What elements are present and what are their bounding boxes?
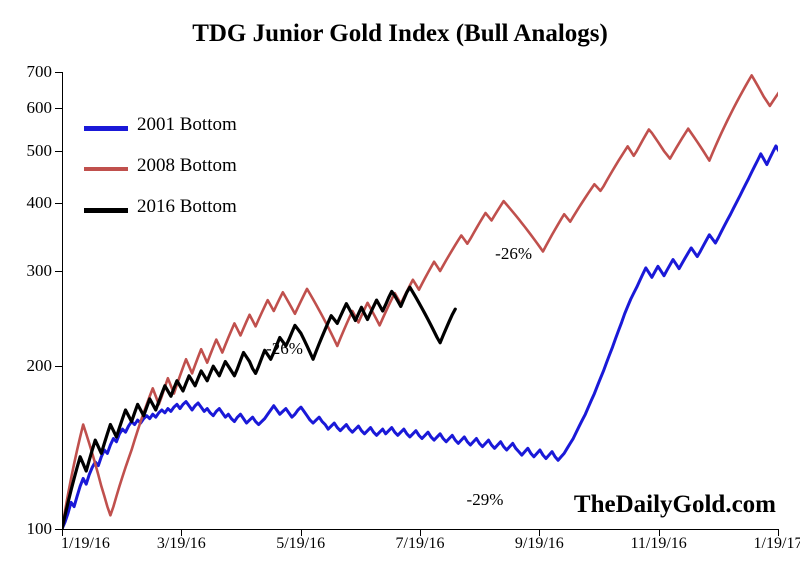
- page-title: TDG Junior Gold Index (Bull Analogs): [0, 20, 800, 48]
- legend-swatch: [84, 126, 128, 131]
- y-axis-tick-label: 200: [0, 356, 52, 376]
- x-axis-tick-label: 11/19/16: [630, 535, 686, 553]
- series-line: [62, 287, 455, 529]
- y-axis-tick-label: 300: [0, 261, 52, 281]
- y-axis-tick: [55, 151, 62, 152]
- x-axis-tick-label: 1/19/17: [754, 535, 800, 553]
- x-axis-tick: [420, 529, 421, 536]
- x-axis-line: [62, 529, 778, 530]
- legend-swatch: [84, 208, 128, 213]
- x-axis-tick: [659, 529, 660, 536]
- legend-label: 2001 Bottom: [137, 114, 237, 136]
- watermark: TheDailyGold.com: [574, 491, 776, 519]
- x-axis-tick: [181, 529, 182, 536]
- x-axis-tick-label: 3/19/16: [157, 535, 206, 553]
- legend-label: 2008 Bottom: [137, 155, 237, 177]
- legend-swatch: [84, 167, 128, 171]
- y-axis-tick-label: 100: [0, 519, 52, 539]
- chart-container: TDG Junior Gold Index (Bull Analogs) 100…: [0, 0, 800, 575]
- y-axis-tick: [55, 203, 62, 204]
- x-axis-tick: [62, 529, 63, 536]
- y-axis-tick-label: 500: [0, 141, 52, 161]
- annotation-label: -26%: [266, 339, 303, 359]
- y-axis-tick: [55, 72, 62, 73]
- x-axis-tick-label: 5/19/16: [276, 535, 325, 553]
- series-lines: [62, 72, 778, 529]
- x-axis-tick: [778, 529, 779, 536]
- y-axis-tick: [55, 271, 62, 272]
- series-line: [62, 131, 778, 529]
- x-axis-tick: [301, 529, 302, 536]
- legend-label: 2016 Bottom: [137, 196, 237, 218]
- y-axis-tick: [55, 529, 62, 530]
- y-axis-tick-label: 700: [0, 62, 52, 82]
- x-axis-tick-label: 9/19/16: [515, 535, 564, 553]
- y-axis-tick: [55, 108, 62, 109]
- y-axis-tick-label: 600: [0, 98, 52, 118]
- x-axis-tick: [539, 529, 540, 536]
- y-axis-line: [62, 72, 63, 529]
- annotation-label: -29%: [467, 490, 504, 510]
- y-axis-tick-label: 400: [0, 193, 52, 213]
- x-axis-tick-label: 1/19/16: [61, 535, 110, 553]
- y-axis-tick: [55, 366, 62, 367]
- annotation-label: -26%: [495, 244, 532, 264]
- x-axis-tick-label: 7/19/16: [396, 535, 445, 553]
- plot-area: [62, 72, 778, 529]
